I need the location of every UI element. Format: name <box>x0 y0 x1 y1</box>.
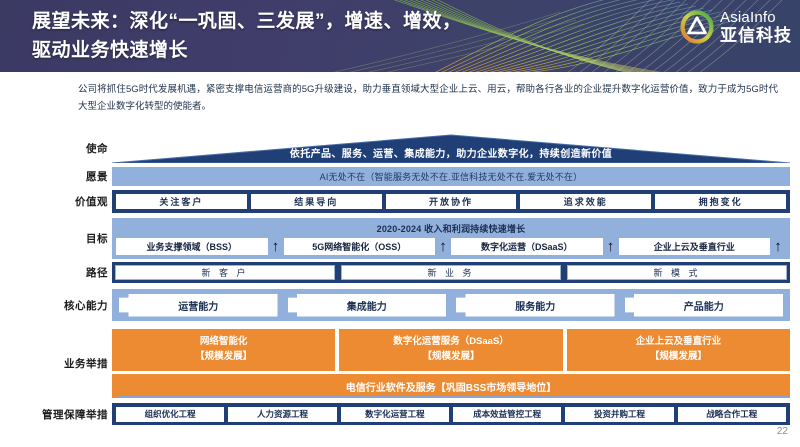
business-item[interactable]: 企业上云及垂直行业 【规模发展】 <box>567 329 790 371</box>
value-item[interactable]: 追求效能 <box>520 194 651 209</box>
business-item[interactable]: 数字化运营服务（DSaaS） 【规模发展】 <box>339 329 562 371</box>
vision-bar[interactable]: AI无处不在（智能服务无处不在.亚信科技无处不在.爱无处不在） <box>112 167 790 186</box>
goal-item[interactable]: 企业上云及垂直行业 <box>619 238 771 255</box>
up-arrow-icon: ↑ <box>603 239 619 254</box>
row-label-vision: 愿景 <box>0 169 112 184</box>
path-item[interactable]: 新 客 户 <box>115 265 335 280</box>
capability-item[interactable]: 服务能力 <box>456 294 615 317</box>
business-item-line2: 【规模发展】 <box>195 350 252 365</box>
goal-item[interactable]: 数字化运营（DSaaS） <box>451 238 603 255</box>
page-number: 22 <box>777 426 788 437</box>
up-arrow-icon: ↑ <box>435 239 451 254</box>
path-item[interactable]: 新 模 式 <box>567 265 787 280</box>
management-item[interactable]: 战略合作工程 <box>678 407 786 422</box>
capability-item[interactable]: 集成能力 <box>288 294 447 317</box>
path-bar: 新 客 户 新 业 务 新 模 式 <box>112 262 790 283</box>
business-item[interactable]: 网络智能化 【规模发展】 <box>112 329 335 371</box>
goals-title: 2020-2024 收入和利润持续快速增长 <box>116 221 786 238</box>
business-item-line2: 【规模发展】 <box>422 350 479 365</box>
section-divider <box>118 396 790 398</box>
page-title: 展望未来：深化“一巩固、三发展”，增速、增效， 驱动业务快速增长 <box>32 8 592 65</box>
slide-header: 展望未来：深化“一巩固、三发展”，增速、增效， 驱动业务快速增长 AsiaInf… <box>0 0 800 72</box>
row-label-capability: 核心能力 <box>0 298 112 313</box>
up-arrow-icon: ↑ <box>268 239 284 254</box>
business-item-line2: 【规模发展】 <box>650 350 707 365</box>
management-item[interactable]: 数字化运营工程 <box>341 407 449 422</box>
path-item[interactable]: 新 业 务 <box>341 265 561 280</box>
value-item[interactable]: 拥抱变化 <box>655 194 786 209</box>
strategy-board: 使命 依托产品、服务、运营、集成能力，助力企业数字化，持续创造新价值 愿景 AI… <box>0 133 800 433</box>
row-path: 路径 新 客 户 新 业 务 新 模 式 <box>0 262 800 283</box>
logo-text-cn: 亚信科技 <box>720 27 792 44</box>
row-capability: 核心能力 运营能力 集成能力 服务能力 产品能力 <box>0 289 800 321</box>
value-item[interactable]: 结果导向 <box>251 194 382 209</box>
up-arrow-icon: ↑ <box>770 239 786 254</box>
capability-bar: 运营能力 集成能力 服务能力 产品能力 <box>112 289 790 321</box>
row-label-management: 管理保障举措 <box>0 407 112 422</box>
capability-item[interactable]: 运营能力 <box>119 294 278 317</box>
asiainfo-swirl-logo-icon <box>680 10 714 44</box>
business-item-line1: 数字化运营服务（DSaaS） <box>393 335 509 350</box>
goals-panel: 2020-2024 收入和利润持续快速增长 业务支撑领域（BSS） ↑ 5G网络… <box>112 218 790 259</box>
row-values: 价值观 关注客户 结果导向 开放协作 追求效能 拥抱变化 <box>0 190 800 213</box>
values-bar: 关注客户 结果导向 开放协作 追求效能 拥抱变化 <box>112 190 790 213</box>
mission-banner[interactable]: 依托产品、服务、运营、集成能力，助力企业数字化，持续创造新价值 <box>112 133 790 163</box>
asiainfo-logo: AsiaInfo 亚信科技 <box>680 10 792 44</box>
row-business-measures: 业务举措 网络智能化 【规模发展】 数字化运营服务（DSaaS） 【规模发展】 … <box>0 329 800 398</box>
row-mission: 使命 依托产品、服务、运营、集成能力，助力企业数字化，持续创造新价值 <box>0 133 800 163</box>
management-item[interactable]: 投资并购工程 <box>565 407 673 422</box>
mission-text: 依托产品、服务、运营、集成能力，助力企业数字化，持续创造新价值 <box>112 133 790 163</box>
management-item[interactable]: 成本效益管控工程 <box>453 407 561 422</box>
logo-text-en: AsiaInfo <box>720 10 792 25</box>
row-label-business-measures: 业务举措 <box>0 356 112 371</box>
goal-item[interactable]: 业务支撑领域（BSS） <box>116 238 268 255</box>
row-management: 管理保障举措 组织优化工程 人力资源工程 数字化运营工程 成本效益管控工程 投资… <box>0 403 800 425</box>
row-label-mission: 使命 <box>0 141 112 156</box>
intro-paragraph: 公司将抓住5G时代发展机遇，紧密支撑电信运营商的5G升级建设，助力垂直领域大型企… <box>78 82 778 115</box>
business-item-line1: 网络智能化 <box>200 335 248 350</box>
value-item[interactable]: 关注客户 <box>116 194 247 209</box>
goal-item[interactable]: 5G网络智能化（OSS） <box>284 238 436 255</box>
vision-text: AI无处不在（智能服务无处不在.亚信科技无处不在.爱无处不在） <box>320 170 583 183</box>
management-bar: 组织优化工程 人力资源工程 数字化运营工程 成本效益管控工程 投资并购工程 战略… <box>112 403 790 425</box>
row-goals: 目标 2020-2024 收入和利润持续快速增长 业务支撑领域（BSS） ↑ 5… <box>0 218 800 259</box>
capability-item[interactable]: 产品能力 <box>625 294 784 317</box>
row-label-values: 价值观 <box>0 194 112 209</box>
business-item-line1: 企业上云及垂直行业 <box>636 335 722 350</box>
row-label-goals: 目标 <box>0 231 112 246</box>
management-item[interactable]: 人力资源工程 <box>228 407 336 422</box>
management-item[interactable]: 组织优化工程 <box>116 407 224 422</box>
business-footer-text: 电信行业软件及服务【巩固BSS市场领导地位】 <box>346 379 557 394</box>
row-vision: 愿景 AI无处不在（智能服务无处不在.亚信科技无处不在.爱无处不在） <box>0 167 800 186</box>
row-label-path: 路径 <box>0 265 112 280</box>
value-item[interactable]: 开放协作 <box>386 194 517 209</box>
business-footer-bar[interactable]: 电信行业软件及服务【巩固BSS市场领导地位】 <box>112 374 790 398</box>
business-panel: 网络智能化 【规模发展】 数字化运营服务（DSaaS） 【规模发展】 企业上云及… <box>112 329 790 398</box>
